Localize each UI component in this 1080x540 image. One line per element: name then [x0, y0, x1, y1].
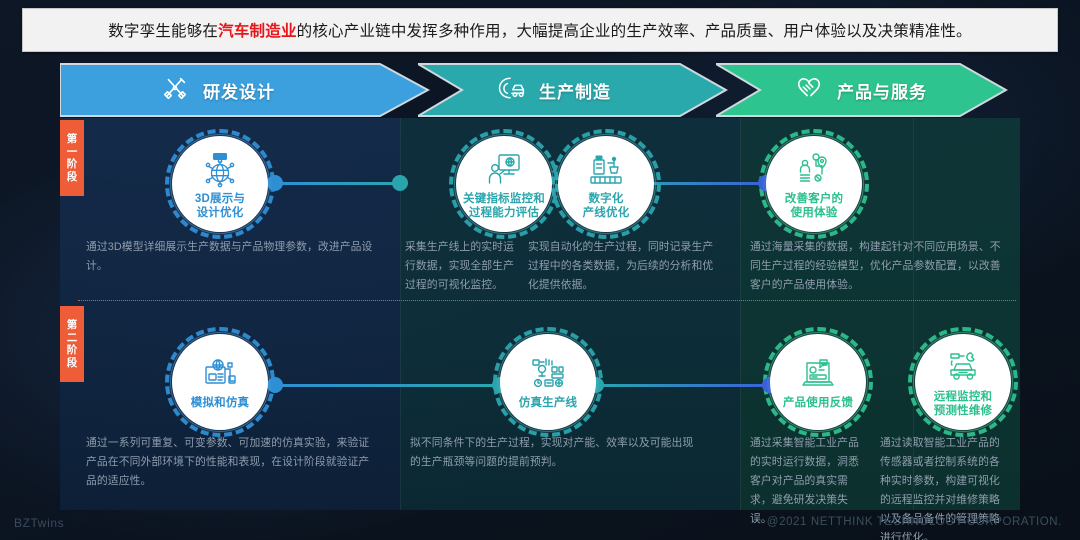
- node-title-5: 模拟和仿真: [168, 396, 272, 410]
- svg-text:3D: 3D: [216, 155, 224, 161]
- connector-dot-n5: [267, 377, 283, 393]
- stage-tag-label-2: 第二阶段: [63, 319, 81, 369]
- node-title-3-line1: 数字化: [554, 192, 658, 206]
- node-circle-2[interactable]: 关键指标监控和 过程能力评估: [456, 136, 552, 232]
- header-text-after: 的核心产业链中发挥多种作用，大幅提高企业的生产效率、产品质量、用户体验以及决策精…: [297, 23, 972, 40]
- node-kpi-monitoring[interactable]: 关键指标监控和 过程能力评估: [456, 136, 552, 232]
- robot-arm-icon: [528, 354, 568, 394]
- drafting-compass-icon: [160, 73, 190, 108]
- header-title: 数字孪生能够在汽车制造业的核心产业链中发挥多种作用，大幅提高企业的生产效率、产品…: [108, 19, 972, 41]
- node-row-phase-two: 模拟和仿真: [60, 302, 1020, 510]
- connector-dot-n2: [392, 175, 408, 191]
- header-banner: 数字孪生能够在汽车制造业的核心产业链中发挥多种作用，大幅提高企业的生产效率、产品…: [22, 8, 1058, 52]
- node-remote-monitoring-maintenance[interactable]: 远程监控和 预测性维修: [915, 334, 1011, 430]
- node-simulation-modeling[interactable]: 模拟和仿真: [172, 334, 268, 430]
- node-title-6-line1: 仿真生产线: [496, 396, 600, 410]
- connector-n6-n7: [595, 384, 770, 387]
- connector-n1-n2: [275, 182, 400, 185]
- node-description-2: 采集生产线上的实时运行数据，实现全部生产过程的可视化监控。: [405, 238, 515, 295]
- node-title-7: 产品使用反馈: [766, 396, 870, 410]
- node-title-5-line1: 模拟和仿真: [168, 396, 272, 410]
- phase-label-rd: 研发设计: [203, 78, 275, 103]
- row-divider-dotted: [78, 300, 1016, 301]
- node-description-6: 拟不同条件下的生产过程，实现对产能、效率以及可能出现的生产瓶颈等问题的提前预判。: [410, 434, 700, 472]
- node-title-6: 仿真生产线: [496, 396, 600, 410]
- node-circle-7[interactable]: 产品使用反馈: [770, 334, 866, 430]
- node-title-2: 关键指标监控和 过程能力评估: [452, 192, 556, 220]
- node-circle-8[interactable]: 远程监控和 预测性维修: [915, 334, 1011, 430]
- car-inspection-icon: [496, 73, 526, 108]
- node-title-1-line2: 设计优化: [168, 206, 272, 220]
- node-digital-line-optimization[interactable]: 数字化 产线优化: [558, 136, 654, 232]
- factory-line-icon: [586, 150, 626, 190]
- simulation-desk-icon: [200, 354, 240, 394]
- node-title-4-line2: 使用体验: [762, 206, 866, 220]
- node-3d-display-design[interactable]: 3D 3D展示与 设计优化: [172, 136, 268, 232]
- node-improve-customer-experience[interactable]: 改善客户的 使用体验: [766, 136, 862, 232]
- node-row-phase-one: 3D 3D展示与 设计优化: [60, 118, 1020, 300]
- node-title-7-line1: 产品使用反馈: [766, 396, 870, 410]
- node-title-8-line2: 预测性维修: [911, 404, 1015, 418]
- node-product-usage-feedback[interactable]: 产品使用反馈: [770, 334, 866, 430]
- phase-label-manufacturing: 生产制造: [539, 78, 611, 103]
- stage-tag-phase-one: 第一阶段: [60, 120, 84, 196]
- monitor-person-icon: [484, 150, 524, 190]
- node-title-4-line1: 改善客户的: [762, 192, 866, 206]
- node-description-3: 实现自动化的生产过程，同时记录生产过程中的各类数据，为后续的分析和优化提供依据。: [528, 238, 718, 295]
- node-description-1: 通过3D模型详细展示生产数据与产品物理参数，改进产品设计。: [86, 238, 376, 276]
- node-description-7: 通过采集智能工业产品的实时运行数据，洞悉客户对产品的真实需求，避免研发决策失误。: [750, 434, 868, 529]
- node-simulated-production-line[interactable]: 仿真生产线: [500, 334, 596, 430]
- handshake-icon: [794, 73, 824, 108]
- car-wrench-icon: [943, 348, 983, 388]
- node-description-5: 通过一系列可重复、可变参数、可加速的仿真实验，来验证产品在不同外部环境下的性能和…: [86, 434, 376, 491]
- phase-arrow-rd[interactable]: 研发设计: [60, 62, 430, 118]
- node-circle-4[interactable]: 改善客户的 使用体验: [766, 136, 862, 232]
- laptop-feedback-icon: [798, 354, 838, 394]
- customer-journey-icon: [794, 150, 834, 190]
- node-title-2-line2: 过程能力评估: [452, 206, 556, 220]
- node-circle-6[interactable]: 仿真生产线: [500, 334, 596, 430]
- node-description-4: 通过海量采集的数据，构建起针对不同应用场景、不同生产过程的经验模型，优化产品参数…: [750, 238, 1005, 295]
- connector-n5-n6: [275, 384, 500, 387]
- node-title-8: 远程监控和 预测性维修: [911, 390, 1015, 418]
- phase-arrow-banner: 研发设计 生产制造: [60, 62, 1020, 118]
- node-circle-1[interactable]: 3D 3D展示与 设计优化: [172, 136, 268, 232]
- footer-copyright: @2021 NETTHINK TECHNOLOGY CORPORATION.: [767, 516, 1062, 528]
- node-circle-3[interactable]: 数字化 产线优化: [558, 136, 654, 232]
- phase-label-service: 产品与服务: [837, 78, 927, 103]
- node-title-1-line1: 3D展示与: [168, 192, 272, 206]
- stage-tag-phase-two: 第二阶段: [60, 306, 84, 382]
- node-circle-5[interactable]: 模拟和仿真: [172, 334, 268, 430]
- node-title-2-line1: 关键指标监控和: [452, 192, 556, 206]
- node-title-1: 3D展示与 设计优化: [168, 192, 272, 220]
- header-highlight-term: 汽车制造业: [218, 23, 297, 40]
- stage-tag-label-1: 第一阶段: [63, 133, 81, 183]
- node-title-8-line1: 远程监控和: [911, 390, 1015, 404]
- footer-brand: BZTwins: [14, 516, 64, 530]
- stage-panel: 研发设计 生产制造: [60, 62, 1020, 510]
- phase-arrow-manufacturing[interactable]: 生产制造: [418, 62, 728, 118]
- 3d-globe-icon: 3D: [200, 150, 240, 190]
- node-title-4: 改善客户的 使用体验: [762, 192, 866, 220]
- connector-dot-n1: [267, 175, 283, 191]
- node-title-3-line2: 产线优化: [554, 206, 658, 220]
- node-title-3: 数字化 产线优化: [554, 192, 658, 220]
- phase-arrow-service[interactable]: 产品与服务: [716, 62, 1008, 118]
- header-text-before: 数字孪生能够在: [108, 23, 218, 40]
